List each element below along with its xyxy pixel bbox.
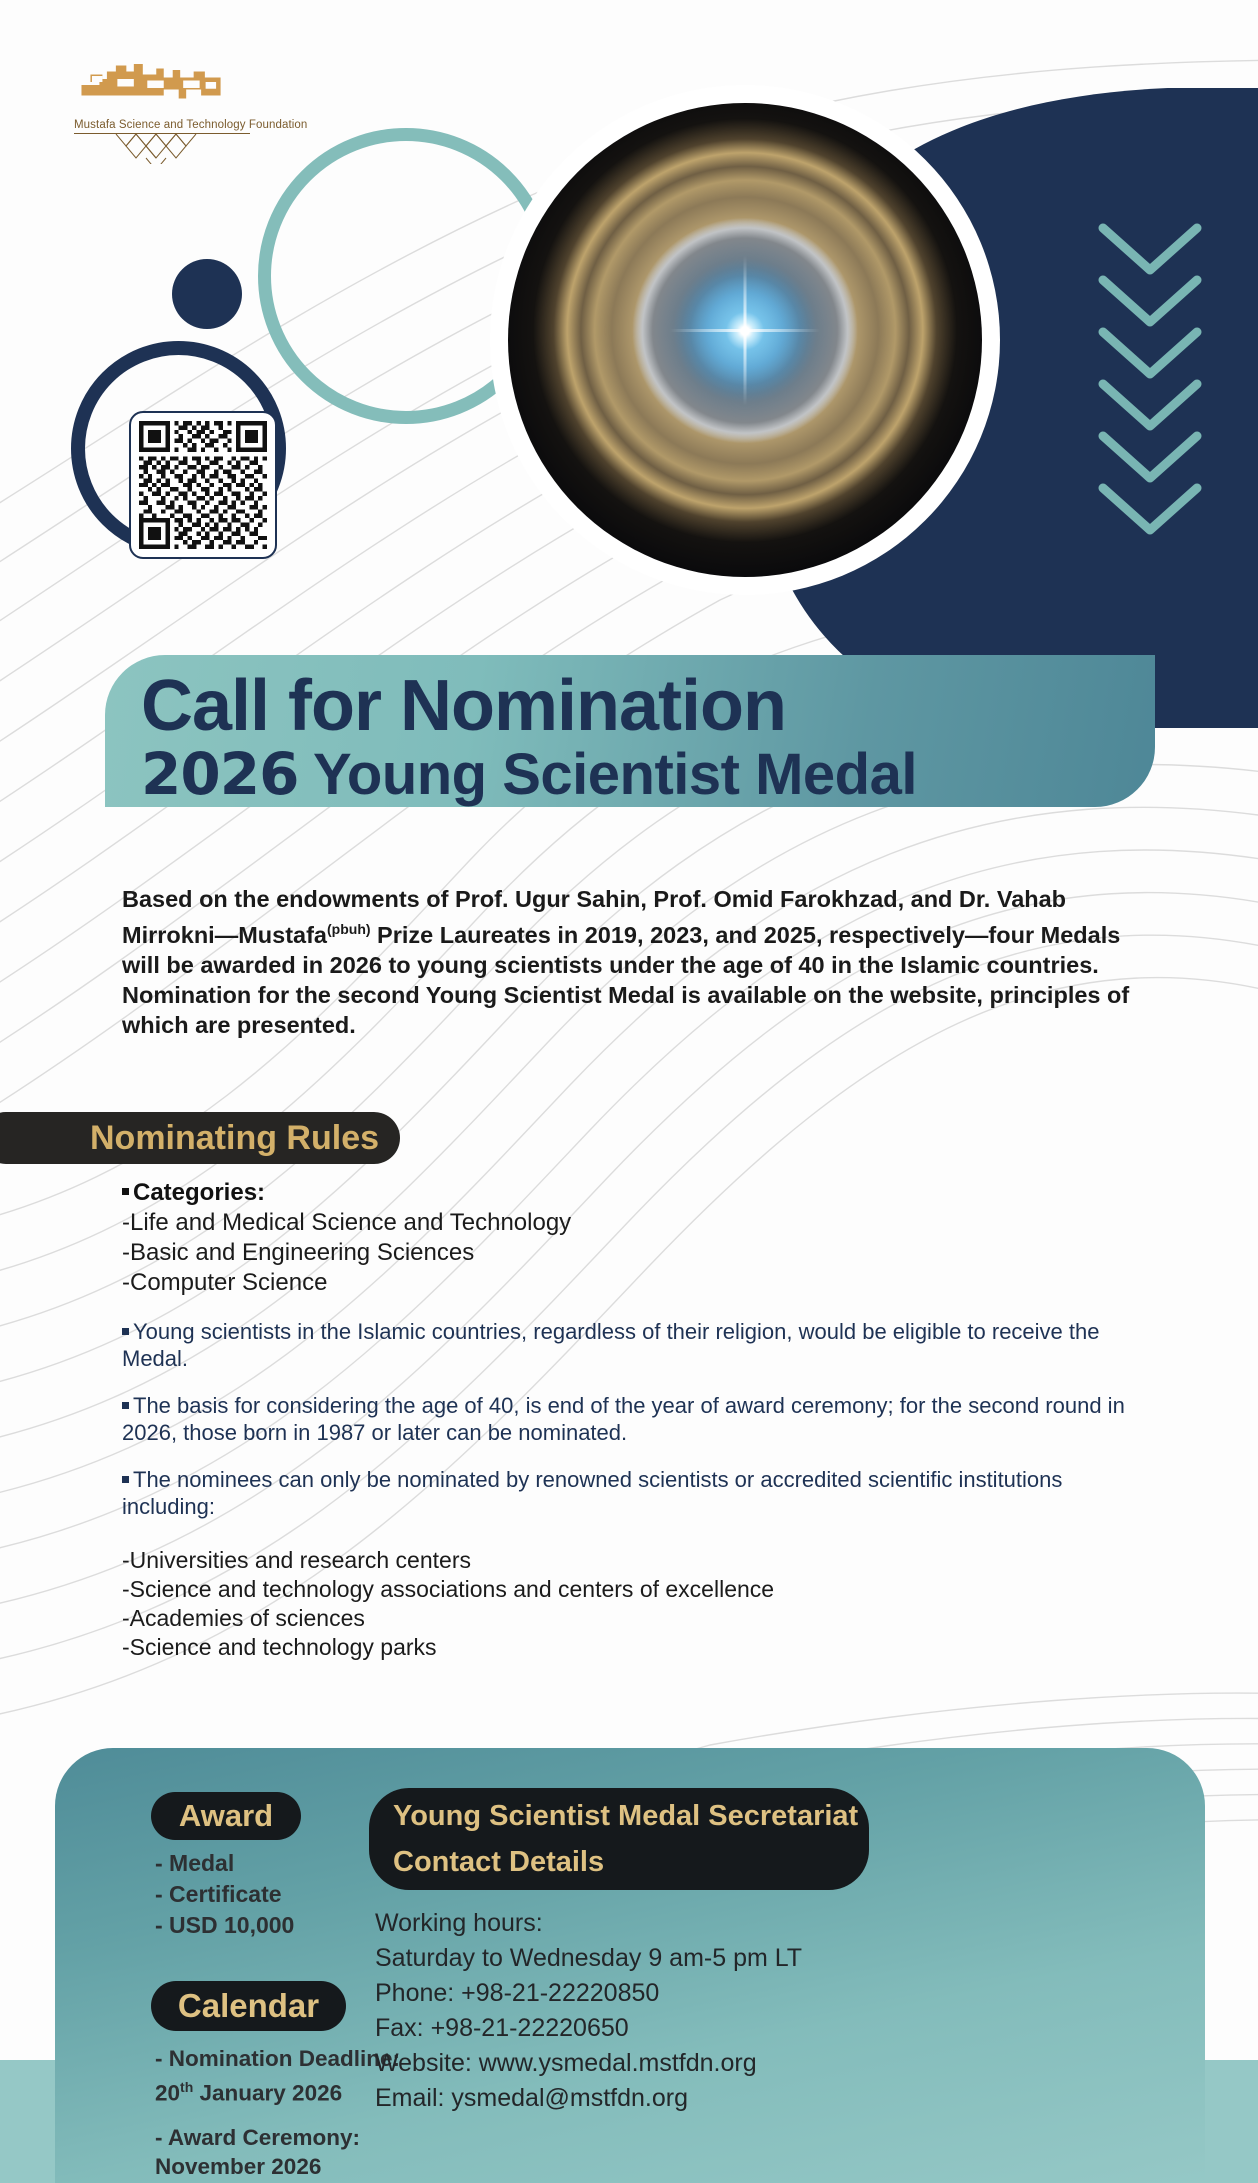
deadline-rest: January 2026: [193, 2081, 342, 2106]
working-hours-value: Saturday to Wednesday 9 am-5 pm LT: [375, 1941, 802, 1976]
square-bullet-icon: [122, 1328, 129, 1335]
square-bullet-icon: [122, 1188, 129, 1195]
contact-details: Working hours: Saturday to Wednesday 9 a…: [375, 1906, 802, 2116]
rule-paragraph: Young scientists in the Islamic countrie…: [122, 1318, 1142, 1372]
mustafa-wordmark-icon: [74, 52, 246, 112]
contact-fax: Fax: +98-21-22220650: [375, 2011, 802, 2046]
rule-paragraph-text: The nominees can only be nominated by re…: [122, 1467, 1062, 1519]
award-item: - Certificate: [155, 1879, 294, 1910]
logo-caption: Mustafa Science and Technology Foundatio…: [74, 117, 304, 131]
medal-star-glow: [670, 256, 820, 406]
title-subtitle-rest: Young Scientist Medal: [298, 742, 917, 807]
contact-phone[interactable]: Phone: +98-21-22220850: [375, 1976, 802, 2011]
chevron-down-icon: [1103, 228, 1197, 270]
contact-heading: Young Scientist Medal Secretariat Contac…: [369, 1788, 869, 1890]
medal-image: [490, 85, 1000, 595]
square-bullet-icon: [122, 1402, 129, 1409]
foundation-logo: Mustafa Science and Technology Foundatio…: [74, 52, 304, 169]
institution-item: -Universities and research centers: [122, 1546, 1142, 1575]
award-ceremony-label: - Award Ceremony:: [155, 2123, 400, 2152]
award-ceremony-date: November 2026: [155, 2152, 400, 2181]
award-list: - Medal - Certificate - USD 10,000: [155, 1848, 294, 1941]
page-title-banner: Call for Nomination 2026 Young Scientist…: [105, 655, 1155, 807]
chevron-down-icon: [1103, 436, 1197, 478]
rules-content: Categories: -Life and Medical Science an…: [122, 1178, 1142, 1662]
contact-website[interactable]: Website: www.ysmedal.mstfdn.org: [375, 2046, 802, 2081]
logo-ornament-icon: [74, 134, 250, 164]
institution-item: -Science and technology associations and…: [122, 1575, 1142, 1604]
qr-code-matrix: [139, 421, 267, 549]
categories-heading: Categories:: [122, 1178, 1142, 1208]
title-year: 2026: [141, 740, 298, 808]
contact-heading-line1: Young Scientist Medal Secretariat: [393, 1793, 869, 1839]
navy-dot-decoration: [172, 259, 242, 329]
nominating-rules-header: Nominating Rules: [0, 1112, 400, 1164]
category-item: -Basic and Engineering Sciences: [122, 1238, 1142, 1268]
intro-pbuh: (pbuh): [327, 921, 371, 937]
award-item: - Medal: [155, 1848, 294, 1879]
working-hours-label: Working hours:: [375, 1906, 802, 1941]
contact-heading-line2: Contact Details: [393, 1839, 869, 1885]
intro-part3: Nomination for the second Young Scientis…: [122, 982, 1129, 1038]
chevron-down-icon: [1103, 384, 1197, 426]
nomination-deadline-date: 20th January 2026: [155, 2073, 400, 2108]
calendar-list: - Nomination Deadline: 20th January 2026…: [155, 2044, 400, 2181]
award-item: - USD 10,000: [155, 1910, 294, 1941]
calendar-heading: Calendar: [151, 1981, 346, 2031]
chevron-down-icon: [1103, 280, 1197, 322]
square-bullet-icon: [122, 1476, 129, 1483]
category-item: -Life and Medical Science and Technology: [122, 1208, 1142, 1238]
poster-canvas: Mustafa Science and Technology Foundatio…: [0, 0, 1258, 2183]
page-subtitle: 2026 Young Scientist Medal: [105, 743, 1155, 806]
rule-paragraph-text: Young scientists in the Islamic countrie…: [122, 1319, 1100, 1371]
categories-label: Categories:: [133, 1179, 265, 1206]
category-item: -Computer Science: [122, 1268, 1142, 1298]
nominating-rules-label: Nominating Rules: [0, 1112, 400, 1164]
bottom-info-panel: Award - Medal - Certificate - USD 10,000…: [55, 1748, 1205, 2183]
contact-email[interactable]: Email: ysmedal@mstfdn.org: [375, 2081, 802, 2116]
chevron-down-icon: [1103, 332, 1197, 374]
chevron-down-icon: [1103, 488, 1197, 530]
medal-photo: [508, 103, 982, 577]
rule-paragraph: The basis for considering the age of 40,…: [122, 1392, 1142, 1446]
nomination-deadline-label: - Nomination Deadline:: [155, 2044, 400, 2073]
page-title: Call for Nomination: [105, 669, 1155, 743]
deadline-ordinal: th: [180, 2079, 193, 2095]
award-heading: Award: [151, 1792, 301, 1840]
institution-item: -Science and technology parks: [122, 1633, 1142, 1662]
institution-item: -Academies of sciences: [122, 1604, 1142, 1633]
rule-paragraph: The nominees can only be nominated by re…: [122, 1466, 1142, 1520]
deadline-day: 20: [155, 2081, 180, 2106]
institution-list: -Universities and research centers -Scie…: [122, 1546, 1142, 1662]
rule-paragraph-text: The basis for considering the age of 40,…: [122, 1393, 1125, 1445]
intro-paragraph: Based on the endowments of Prof. Ugur Sa…: [122, 884, 1142, 1040]
qr-code-icon[interactable]: [129, 411, 277, 559]
chevron-down-icon-group: [1085, 220, 1215, 540]
